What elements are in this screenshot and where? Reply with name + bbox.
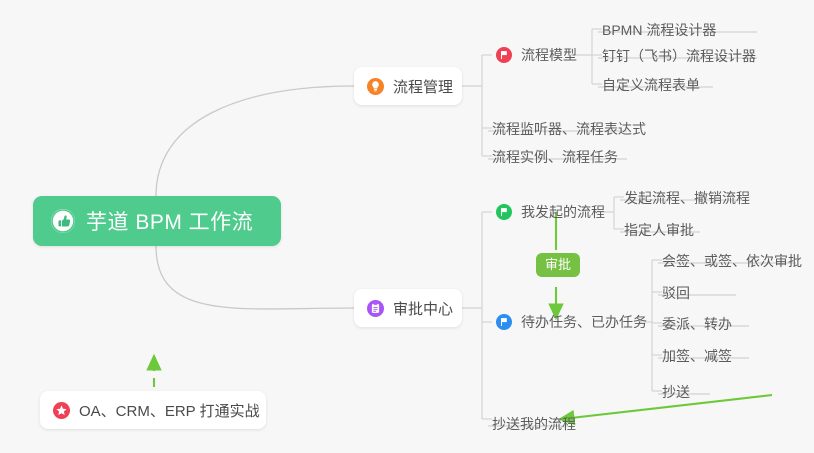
- node-countersign-or-sign-sequential[interactable]: 会签、或签、依次审批: [658, 248, 809, 274]
- lightbulb-icon: [367, 78, 384, 95]
- floating-node-label-integration-note: OA、CRM、ERP 打通实战: [79, 400, 260, 421]
- node-label-delegate-transfer: 委派、转办: [662, 316, 732, 332]
- node-bpmn-designer[interactable]: BPMN 流程设计器: [598, 17, 723, 43]
- node-dingtalk-feishu-designer[interactable]: 钉钉（飞书）流程设计器: [598, 43, 763, 69]
- root-node[interactable]: 芋道 BPM 工作流: [33, 196, 281, 246]
- node-label-dingtalk-feishu-designer: 钉钉（飞书）流程设计器: [602, 48, 756, 64]
- node-label-assignee-approval: 指定人审批: [624, 222, 694, 238]
- node-process-model[interactable]: 流程模型: [492, 42, 584, 68]
- node-my-initiated-process[interactable]: 我发起的流程: [492, 199, 612, 225]
- branch-node-approval-center[interactable]: 审批中心: [354, 289, 462, 327]
- node-cc-to-me-process[interactable]: 抄送我的流程: [488, 411, 583, 437]
- node-label-process-instance-task: 流程实例、流程任务: [492, 149, 618, 165]
- node-todo-done-tasks[interactable]: 待办任务、已办任务: [492, 309, 654, 335]
- node-label-bpmn-designer: BPMN 流程设计器: [602, 22, 716, 38]
- branch-node-process-management[interactable]: 流程管理: [354, 67, 462, 105]
- node-assignee-approval[interactable]: 指定人审批: [620, 217, 701, 243]
- root-label: 芋道 BPM 工作流: [86, 206, 253, 236]
- node-start-cancel-process[interactable]: 发起流程、撤销流程: [620, 185, 757, 211]
- node-cc[interactable]: 抄送: [658, 379, 697, 405]
- node-label-countersign-or-sign-sequential: 会签、或签、依次审批: [662, 253, 802, 269]
- flag-icon: [496, 47, 512, 63]
- branch-label-approval-center: 审批中心: [393, 298, 453, 319]
- curve-root-to-process-management: [156, 86, 354, 196]
- node-process-listener-expression[interactable]: 流程监听器、流程表达式: [488, 116, 653, 142]
- node-reject[interactable]: 驳回: [658, 280, 697, 306]
- node-delegate-transfer[interactable]: 委派、转办: [658, 311, 739, 337]
- flag-icon: [496, 204, 512, 220]
- star-icon: [53, 402, 70, 419]
- node-add-remove-sign[interactable]: 加签、减签: [658, 343, 739, 369]
- curve-root-to-approval-center: [156, 246, 354, 309]
- thumbs-up-icon: [50, 208, 76, 234]
- clipboard-icon: [367, 300, 384, 317]
- node-label-reject: 驳回: [662, 285, 690, 301]
- chip-approval[interactable]: 审批: [536, 253, 580, 277]
- node-label-cc: 抄送: [662, 384, 690, 400]
- node-label-start-cancel-process: 发起流程、撤销流程: [624, 190, 750, 206]
- node-process-instance-task[interactable]: 流程实例、流程任务: [488, 144, 625, 170]
- node-label-add-remove-sign: 加签、减签: [662, 348, 732, 364]
- node-label-todo-done-tasks: 待办任务、已办任务: [521, 309, 647, 335]
- node-label-process-model: 流程模型: [521, 42, 577, 68]
- node-label-process-listener-expression: 流程监听器、流程表达式: [492, 121, 646, 137]
- mindmap-canvas: 芋道 BPM 工作流 流程管理 审批中心: [0, 0, 814, 453]
- floating-node-integration-note[interactable]: OA、CRM、ERP 打通实战: [40, 391, 266, 429]
- branch-label-process-management: 流程管理: [393, 76, 453, 97]
- node-label-custom-process-form: 自定义流程表单: [602, 77, 700, 93]
- node-custom-process-form[interactable]: 自定义流程表单: [598, 72, 707, 98]
- node-label-my-initiated-process: 我发起的流程: [521, 199, 605, 225]
- chip-approval-label: 审批: [545, 257, 571, 272]
- flag-icon: [496, 314, 512, 330]
- node-label-cc-to-me-process: 抄送我的流程: [492, 416, 576, 432]
